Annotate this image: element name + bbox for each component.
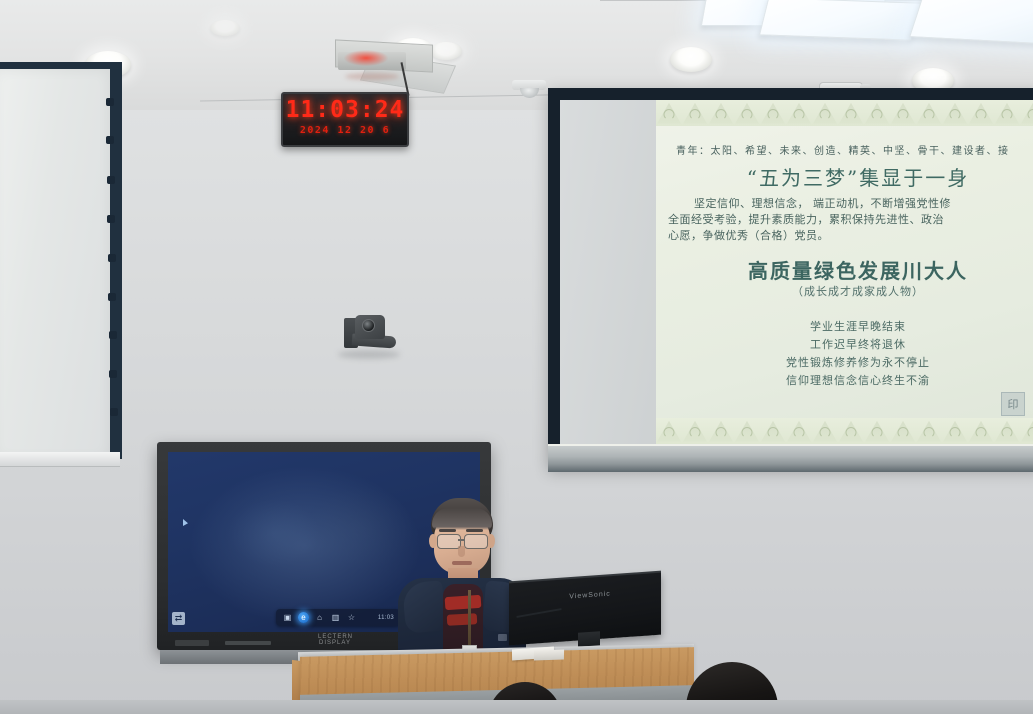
frame-tab [109, 331, 117, 339]
triangle-motif [708, 419, 734, 443]
floor [0, 700, 1033, 714]
panel-light [759, 0, 921, 41]
taskbar-clock: 11:03 [378, 615, 394, 621]
triangle-motif [760, 419, 786, 443]
presenter-eyebrow-left [439, 529, 456, 532]
triangle-motif [812, 101, 838, 125]
triangle-motif [682, 419, 708, 443]
triangle-motif [656, 419, 682, 443]
projection-screen-bottom-bar [548, 444, 1033, 472]
triangle-motif [968, 419, 994, 443]
papers-on-lectern [534, 649, 564, 660]
downlight [670, 47, 712, 72]
left-whiteboard [0, 62, 122, 459]
slide-paragraph: 坚定信仰、理想信念， 端正动机，不断增强党性修 全面经受考验，提升素质能力，累积… [668, 196, 1033, 244]
triangle-motif [942, 419, 968, 443]
eyeglasses-bridge [458, 539, 465, 541]
favorites-star-icon[interactable]: ☆ [346, 612, 357, 623]
frame-tab [110, 408, 118, 416]
frame-tab [109, 370, 117, 378]
triangle-motif [916, 101, 942, 125]
triangle-motif [838, 419, 864, 443]
slide-title: “五为三梦”集显于一身 [678, 162, 1033, 191]
triangle-motif [812, 419, 838, 443]
triangle-motif [864, 101, 890, 125]
clock-date: 2024 12 20 6 [283, 125, 407, 136]
clock-time: 11:03:24 [283, 97, 407, 123]
frame-tab [108, 254, 116, 262]
slide-seal-icon: 印 [1001, 392, 1025, 416]
slide-footer-line: 信仰理想信念信心终生不渝 [668, 372, 1033, 390]
triangle-motif [682, 101, 708, 125]
slide-footer: 学业生涯早晚结束 工作迟早终将退休 党性锻炼修养修为永不停止 信仰理想信念信心终… [668, 318, 1033, 390]
led-wall-clock: 11:03:24 2024 12 20 6 [281, 92, 409, 147]
slide-triangle-border-bottom [656, 419, 1033, 443]
mouse-cursor-icon [183, 519, 188, 526]
task-view-icon[interactable]: ▣ [282, 612, 293, 623]
presenter-mouth [452, 561, 472, 565]
triangle-motif [890, 101, 916, 125]
presenter-ear-left [429, 534, 437, 548]
triangle-motif [994, 419, 1020, 443]
triangle-motif [734, 101, 760, 125]
slide-paragraph-line: 坚定信仰、理想信念， 端正动机，不断增强党性修 [668, 196, 1033, 212]
triangle-motif [656, 101, 682, 125]
frame-tab [108, 293, 116, 301]
triangle-motif [734, 419, 760, 443]
browser-icon[interactable]: e [298, 612, 309, 623]
triangle-motif [786, 101, 812, 125]
display-brand-label: LECTERN DISPLAY [318, 634, 352, 641]
display-ports [225, 641, 271, 645]
slide-big-heading: 高质量绿色发展川大人 [668, 255, 1033, 284]
jacket-logo [498, 634, 507, 641]
slide-paragraph-line: 心愿，争做优秀（合格）党员。 [668, 228, 1033, 244]
shirt-stripe [447, 613, 478, 626]
screen-side-wall [560, 100, 658, 456]
lecture-hall-photo: 11:03:24 2024 12 20 6 青 [0, 0, 1033, 714]
slide-footer-line: 学业生涯早晚结束 [668, 318, 1033, 336]
presenter-eyebrow-right [466, 529, 483, 532]
triangle-motif [890, 419, 916, 443]
triangle-motif [994, 101, 1020, 125]
display-ports [175, 640, 209, 646]
monitor-stand [578, 631, 600, 647]
triangle-motif [708, 101, 734, 125]
chart-icon[interactable]: ▥ [330, 612, 341, 623]
screen-toggle-icon[interactable]: ⇄ [172, 612, 185, 625]
presenter-nose [458, 546, 465, 557]
ptz-camera-shadow [338, 350, 400, 359]
triangle-motif [838, 101, 864, 125]
slide-triangle-border-top [656, 101, 1033, 125]
presenter-hair-front [432, 508, 492, 530]
left-board-sill [0, 452, 120, 467]
slide-footer-line: 工作迟早终将退休 [668, 336, 1033, 354]
projection-screen-surface: 青年：太阳、希望、未来、创造、精英、中坚、骨干、建设者、接 “五为三梦”集显于一… [656, 100, 1033, 444]
triangle-motif [1020, 101, 1033, 125]
slide-header-line: 青年：太阳、希望、未来、创造、精英、中坚、骨干、建设者、接 [676, 142, 1033, 157]
shirt-stripe [445, 595, 482, 610]
projector-lamp-glow [344, 50, 388, 66]
taskbar[interactable]: ▣ e ⌂ ▥ ☆ 11:03 [276, 609, 400, 626]
slide-subheading: （成长成才成家成人物） [668, 283, 1033, 299]
frame-tab [107, 215, 115, 223]
camera-lens-icon [362, 319, 375, 332]
triangle-motif [786, 419, 812, 443]
frame-tab [106, 98, 114, 106]
downlight [430, 42, 462, 60]
presenter-ear-right [487, 534, 495, 548]
downlight [210, 20, 240, 36]
home-icon[interactable]: ⌂ [314, 612, 325, 623]
triangle-motif [1020, 419, 1033, 443]
triangle-motif [968, 101, 994, 125]
triangle-motif [942, 101, 968, 125]
slide-paragraph-line: 全面经受考验，提升素质能力，累积保持先进性、政治 [668, 212, 1033, 228]
eyeglasses-lens-right [464, 534, 488, 549]
triangle-motif [916, 419, 942, 443]
slide-footer-line: 党性锻炼修养修为永不停止 [668, 354, 1033, 372]
frame-tab [107, 176, 115, 184]
projector-shadow [345, 73, 399, 80]
frame-tab [106, 136, 114, 144]
triangle-motif [760, 101, 786, 125]
triangle-motif [864, 419, 890, 443]
